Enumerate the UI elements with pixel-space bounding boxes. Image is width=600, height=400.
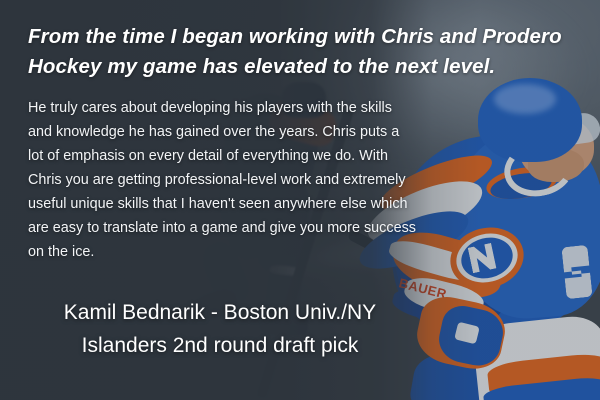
testimonial-card: BAUER From the time I began working with…: [0, 0, 600, 400]
testimonial-body: He truly cares about developing his play…: [28, 96, 416, 264]
testimonial-headline: From the time I began working with Chris…: [28, 22, 588, 82]
testimonial-attribution: Kamil Bednarik - Boston Univ./NY Islande…: [20, 296, 420, 362]
